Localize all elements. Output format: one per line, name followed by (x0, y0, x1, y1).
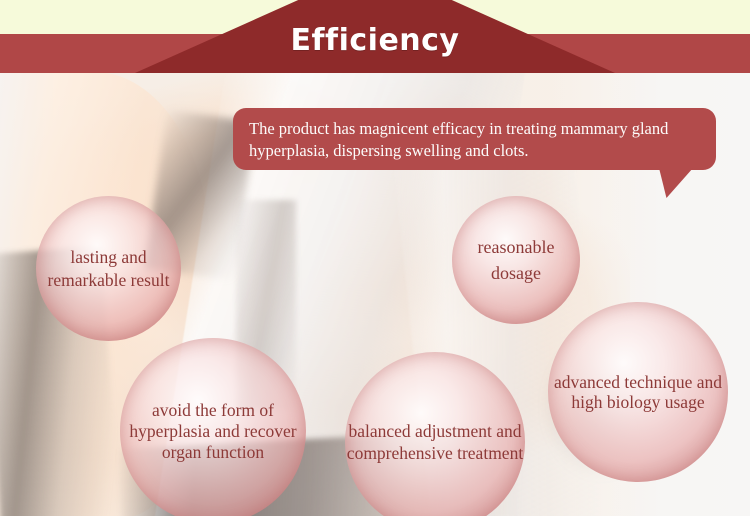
feature-bubble-label: lasting and remarkable result (36, 246, 181, 292)
feature-bubble-label: reasonable dosage (452, 234, 580, 286)
page-title: Efficiency (0, 0, 750, 73)
feature-bubble-advanced-technique: advanced technique and high biology usag… (548, 302, 728, 482)
feature-bubble-label: advanced technique and high biology usag… (548, 372, 728, 412)
speech-bubble-text: The product has magnicent efficacy in tr… (249, 118, 700, 162)
feature-bubble-lasting-result: lasting and remarkable result (36, 196, 181, 341)
feature-bubble-avoid-hyperplasia: avoid the form of hyperplasia and recove… (120, 338, 306, 516)
feature-bubble-label: avoid the form of hyperplasia and recove… (120, 400, 306, 463)
speech-bubble: The product has magnicent efficacy in tr… (233, 108, 716, 170)
feature-bubble-label: balanced adjustment and comprehensive tr… (345, 420, 525, 464)
feature-bubble-reasonable-dosage: reasonable dosage (452, 196, 580, 324)
promotional-banner-page: Efficiency The product has magnicent eff… (0, 0, 750, 516)
